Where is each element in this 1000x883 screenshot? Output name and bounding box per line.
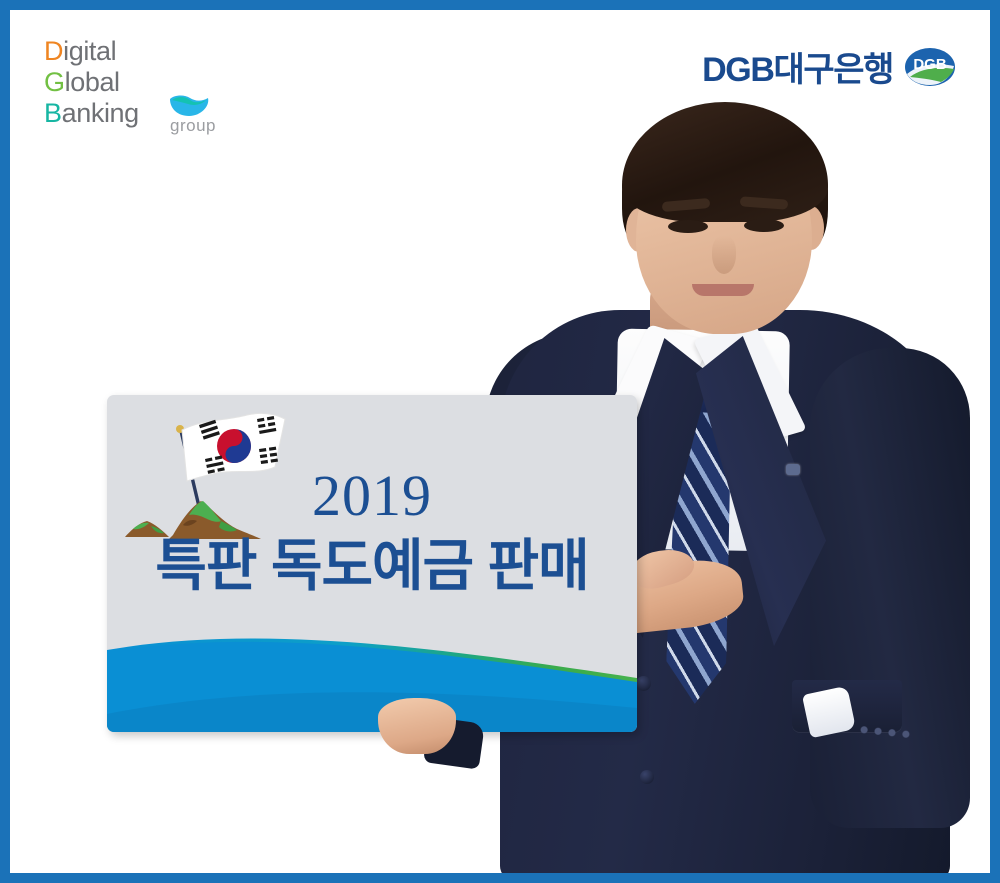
brand-word-global: lobal: [65, 67, 120, 97]
holding-hand: [378, 698, 474, 764]
mouth: [692, 284, 754, 296]
brand-line-digital: Digital: [44, 36, 274, 67]
poster-frame: Digital Global Banking group DGB대구은행: [0, 0, 1000, 883]
suit-arm-right: [810, 348, 970, 828]
suit-button-bottom: [640, 770, 654, 784]
placard-wave-graphic: [107, 622, 637, 732]
hair: [622, 102, 828, 222]
brand-initial-g: G: [44, 67, 65, 97]
poster-canvas: Digital Global Banking group DGB대구은행: [10, 10, 990, 873]
lapel-pin-icon: [786, 464, 800, 475]
holding-hand-palm: [378, 698, 456, 754]
brand-word-digital: igital: [63, 36, 116, 66]
placard-headline: 특판 독도예금 판매: [107, 535, 637, 598]
placard-year: 2019: [107, 467, 637, 525]
eye-right: [744, 219, 784, 232]
promo-placard: 2019 특판 독도예금 판매: [107, 395, 637, 732]
nose: [712, 236, 736, 274]
brand-initial-d: D: [44, 36, 63, 66]
brand-initial-b: B: [44, 98, 62, 128]
brand-word-banking: anking: [62, 98, 139, 128]
swoosh-icon: [168, 94, 212, 118]
group-label: group: [170, 116, 216, 136]
suit-button-top: [636, 676, 651, 691]
eye-left: [668, 220, 708, 233]
group-sublogo: group: [162, 94, 242, 140]
svg-text:DGB: DGB: [913, 56, 947, 73]
